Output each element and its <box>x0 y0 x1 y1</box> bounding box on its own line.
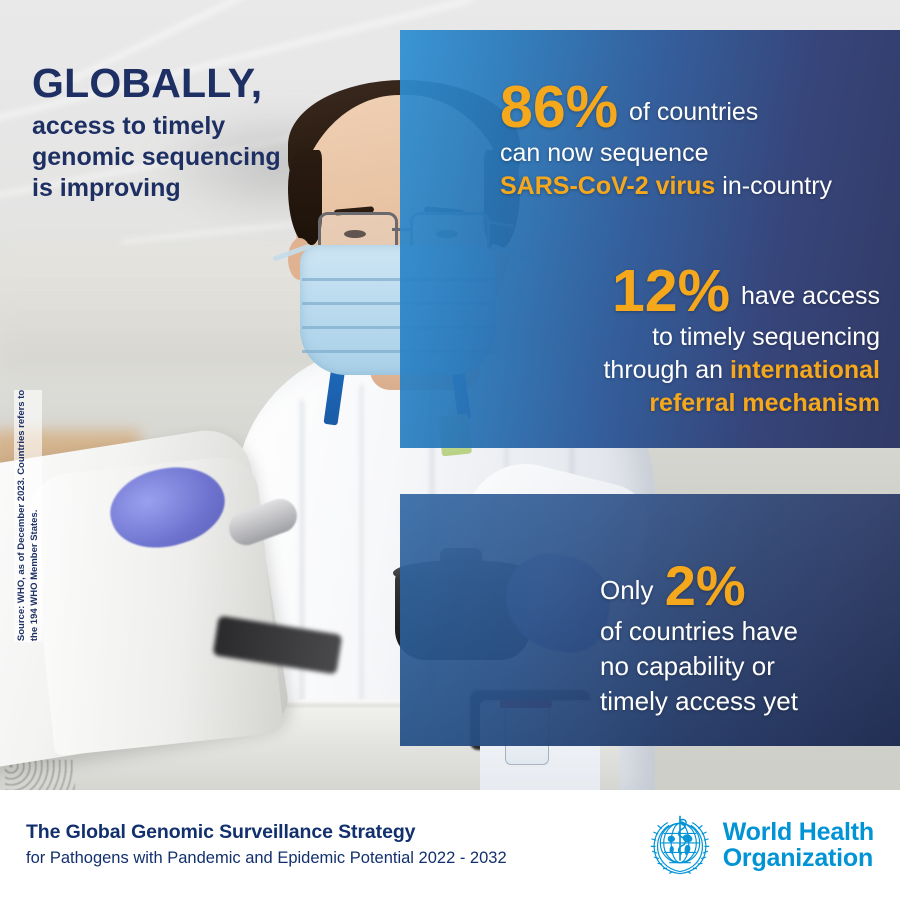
stat-block-12: 12% have access to timely sequencing thr… <box>430 262 880 420</box>
gown-fold <box>360 385 363 735</box>
stat-86-percent: 86% <box>500 74 618 140</box>
stat-block-2: Only 2% of countries have no capability … <box>600 558 882 718</box>
stat-12-line2: to timely sequencing <box>652 323 880 351</box>
stat-2-line2: of countries have <box>600 616 798 646</box>
footer-title: The Global Genomic Surveillance Strategy <box>26 820 507 845</box>
stat-2-line3: no capability or <box>600 651 775 681</box>
stat-2-percent: 2% <box>665 554 746 617</box>
stat-86-highlight: SARS-CoV-2 virus <box>500 172 715 200</box>
source-note-container: Source: WHO, as of December 2023. Countr… <box>14 390 42 642</box>
stat-12-line1-tail: have access <box>734 282 880 310</box>
stat-86-line3-tail: in-country <box>715 172 832 200</box>
stat-12-line3-lead: through an <box>603 356 730 384</box>
source-note: Source: WHO, as of December 2023. Countr… <box>15 389 41 641</box>
stat-86-line1-tail: of countries <box>622 98 758 126</box>
infographic-poster: GLOBALLY, access to timely genomic seque… <box>0 0 900 899</box>
who-wordmark: World Health Organization <box>723 819 874 871</box>
stat-2-lead: Only <box>600 575 661 605</box>
who-emblem-icon <box>646 811 714 879</box>
gown-fold <box>300 400 304 730</box>
footer-bar: The Global Genomic Surveillance Strategy… <box>0 790 900 899</box>
headline-line-4: is improving <box>32 174 181 202</box>
headline-primary: GLOBALLY, <box>32 62 382 105</box>
stat-86-line2: can now sequence <box>500 139 708 167</box>
who-wordmark-line1: World Health <box>723 819 874 845</box>
stat-block-86: 86% of countries can now sequence SARS-C… <box>500 78 880 203</box>
stat-12-highlight-2: referral mechanism <box>649 389 880 417</box>
footer-subtitle: for Pathogens with Pandemic and Epidemic… <box>26 848 507 869</box>
instrument-vent <box>5 760 75 790</box>
stat-2-line4: timely access yet <box>600 686 798 716</box>
headline-block: GLOBALLY, access to timely genomic seque… <box>32 62 382 204</box>
who-logo: World Health Organization <box>646 811 874 879</box>
stat-12-percent: 12% <box>612 258 730 324</box>
who-wordmark-line2: Organization <box>723 845 874 871</box>
headline-line-2: access to timely <box>32 112 225 140</box>
footer-strategy-text: The Global Genomic Surveillance Strategy… <box>26 820 507 870</box>
headline-line-3: genomic sequencing <box>32 143 281 171</box>
headline-secondary: access to timely genomic sequencing is i… <box>32 111 382 204</box>
stat-12-highlight-1: international <box>730 356 880 384</box>
